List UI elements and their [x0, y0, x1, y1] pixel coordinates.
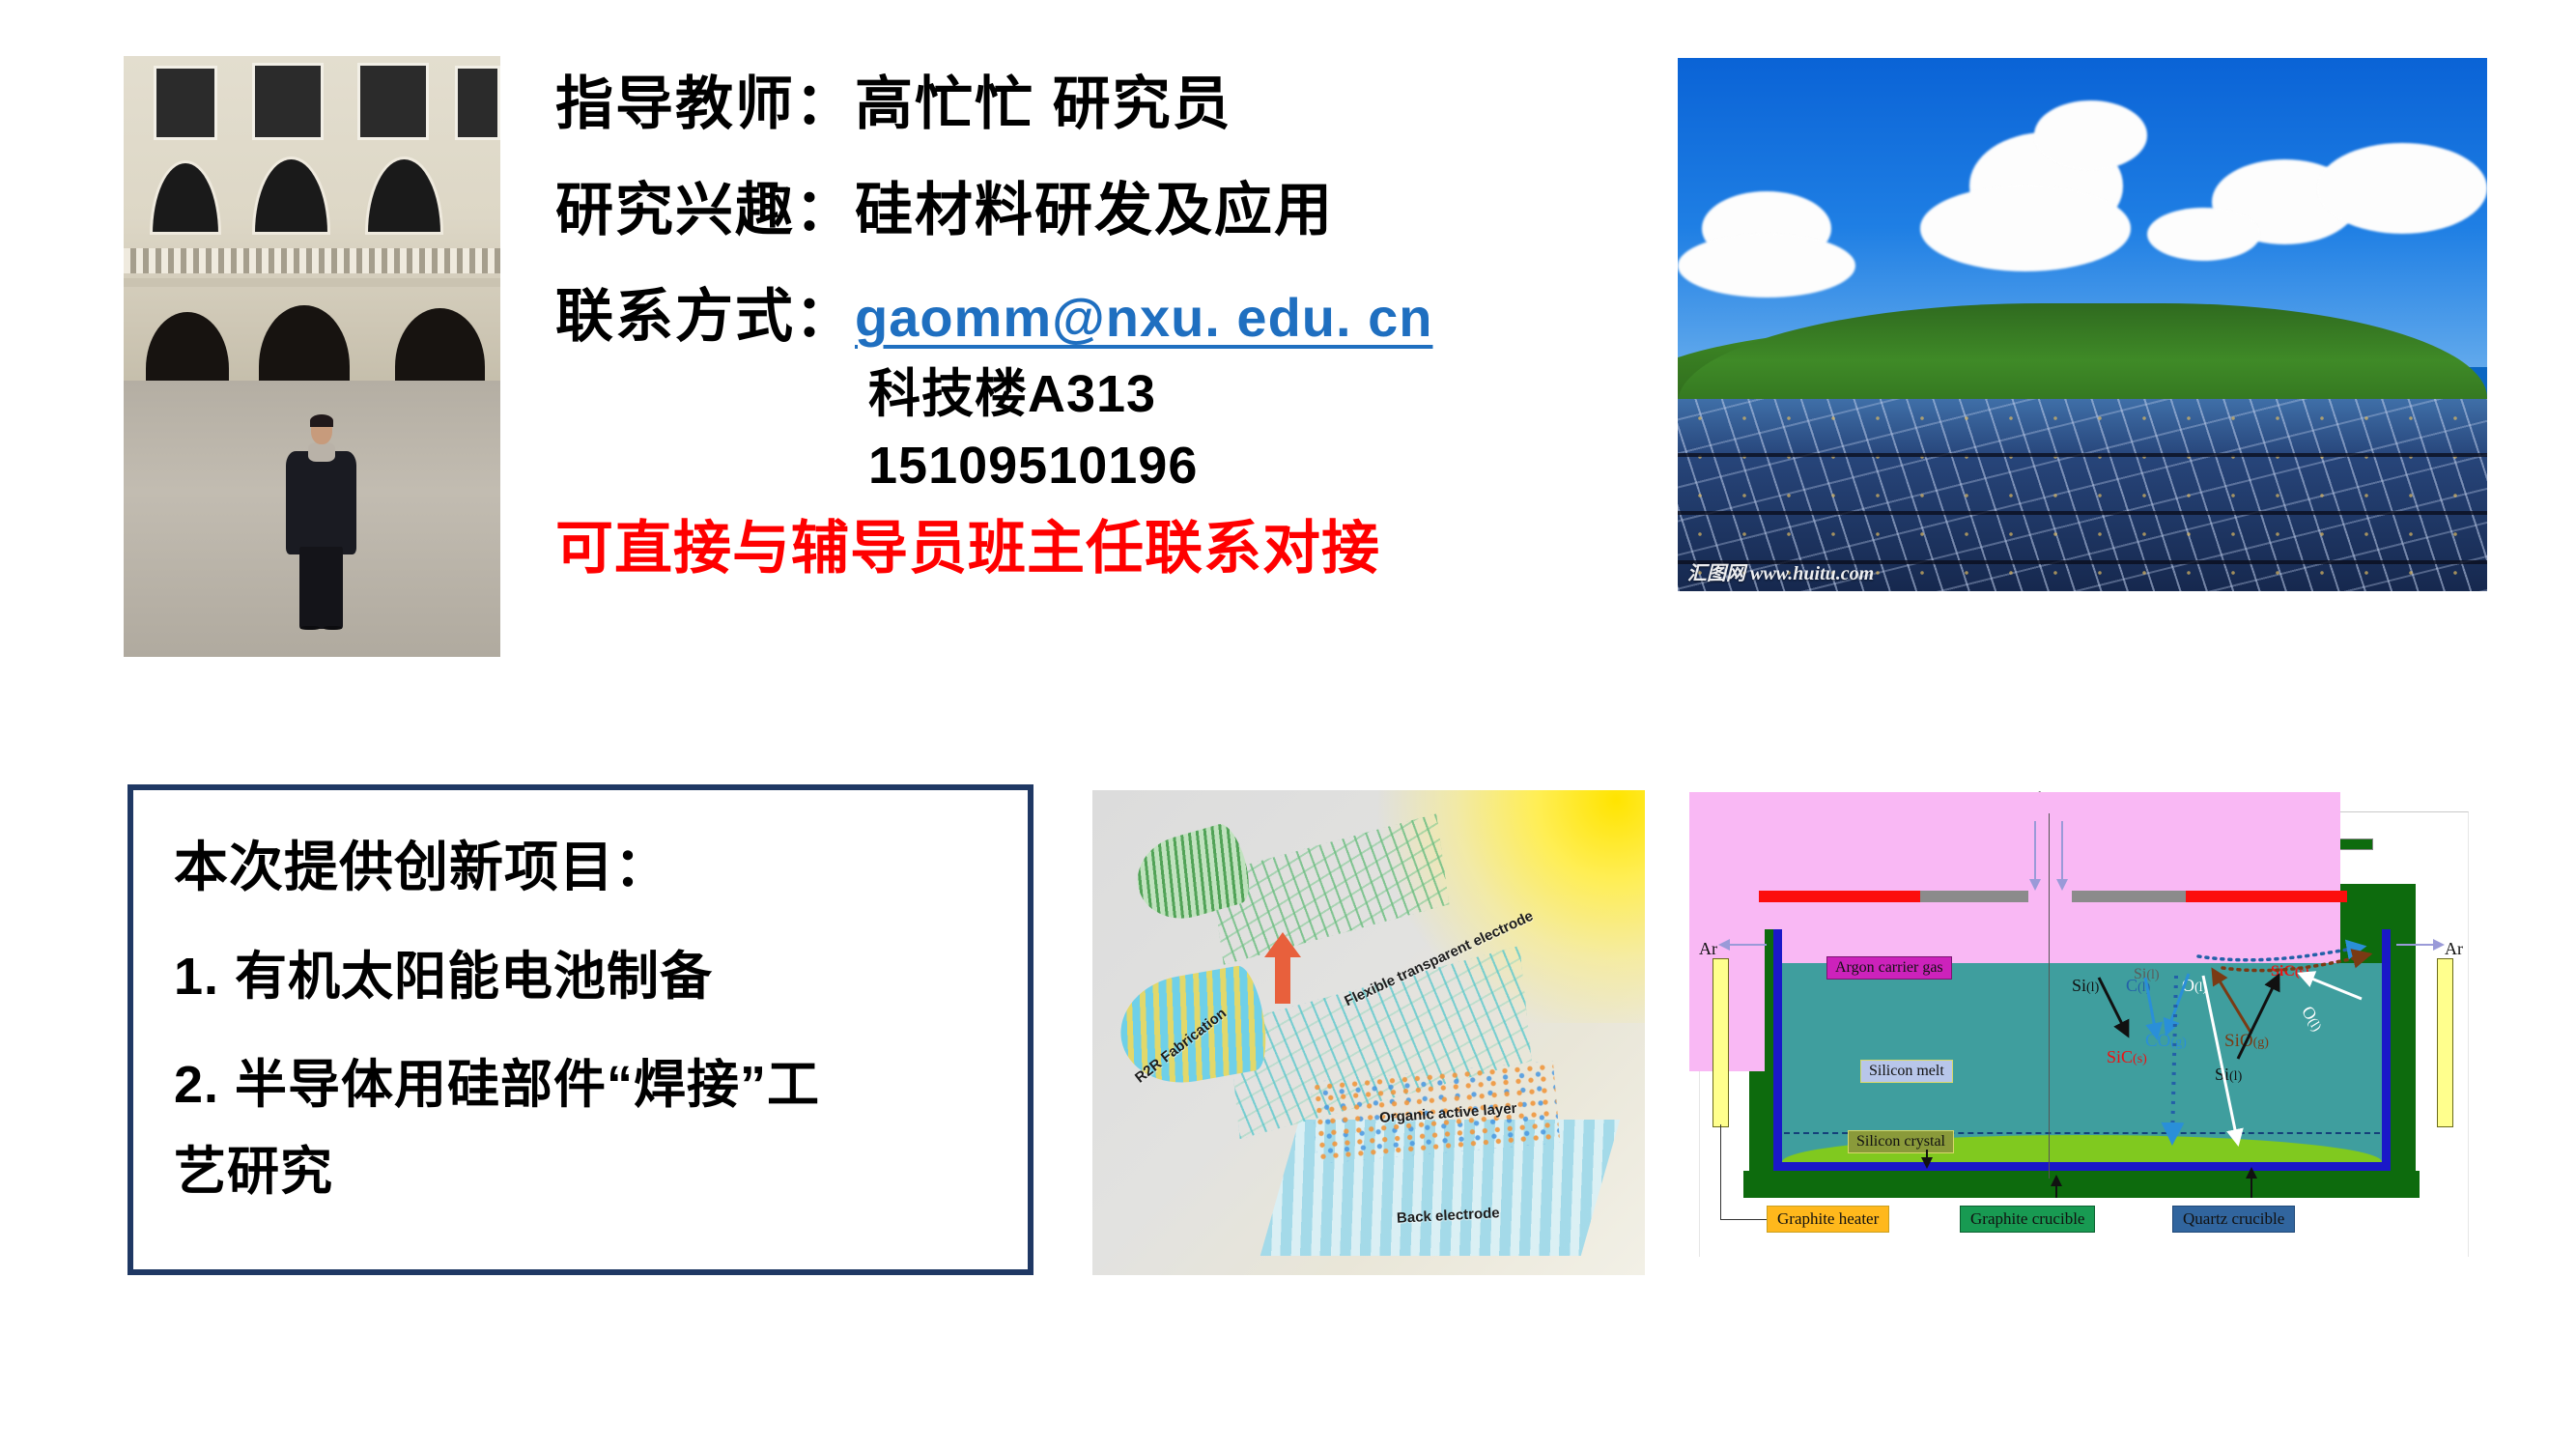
interest-label: 研究兴趣： [555, 178, 855, 242]
cloud [1678, 234, 1855, 298]
project-item-2-cont: 艺研究 [174, 1128, 1028, 1215]
species-c-liquid: C(l) [2126, 976, 2150, 996]
cloud [1920, 185, 2131, 270]
species-sub: (s) [2133, 1052, 2147, 1066]
organic-solar-cell-illustration: R2R Fabrication Flexible transparent ele… [1092, 790, 1645, 1275]
window [252, 63, 324, 140]
deposit-band-right [2186, 891, 2347, 902]
scarf [308, 442, 335, 462]
cloud [2147, 208, 2260, 261]
crucible-base-support [1743, 1171, 2420, 1198]
email-link[interactable]: gaomm@nxu. edu. cn [855, 277, 1432, 358]
shield-band-left [1920, 891, 2028, 902]
species-si-liquid-melt: Si(l) [2072, 976, 2099, 996]
tag-silicon-melt: Silicon melt [1860, 1060, 1953, 1083]
species-text: SiC [2271, 963, 2295, 980]
species-si-liquid-melt-2: Si(l) [2215, 1065, 2242, 1085]
cloud [2317, 143, 2487, 234]
advisor-portrait-photo [124, 56, 500, 657]
contact-note: 可直接与辅导员班主任联系对接 [555, 509, 1579, 588]
tag-silicon-crystal: Silicon crystal [1848, 1130, 1954, 1153]
axis-centerline [2049, 813, 2050, 1179]
species-sub: (l) [2137, 980, 2150, 995]
species-text: Si [2072, 976, 2086, 995]
project-item-2: 2. 半导体用硅部件“焊接”工 [174, 1041, 1028, 1128]
shoe [324, 626, 343, 630]
legs [299, 547, 343, 629]
window [154, 66, 217, 140]
species-sio-gas: SiO(g) [2224, 1031, 2269, 1052]
slide-canvas: 指导教师：高忙忙 研究员 研究兴趣：硅材料研发及应用 联系方式：gaomm@nx… [0, 0, 2576, 1449]
arcade-opening [259, 305, 350, 393]
shoe [300, 626, 320, 630]
legend-quartz-crucible: Quartz crucible [2172, 1206, 2295, 1233]
species-o-liquid-1: O(l) [2182, 976, 2207, 996]
czochralski-furnace-diagram: Ar Parasitic deposits Ar Ar Argon carrie… [1682, 784, 2488, 1277]
person-figure [297, 416, 346, 633]
interest-value: 硅材料研发及应用 [855, 178, 1334, 242]
photo-watermark: 汇图网 www.huitu.com [1687, 557, 1874, 585]
building-facade [124, 56, 500, 392]
office-location: 科技楼A313 [868, 358, 1579, 430]
species-sub: (l) [2229, 1069, 2242, 1084]
species-text: Si [2215, 1065, 2229, 1084]
solar-farm-photo: 汇图网 www.huitu.com [1678, 58, 2487, 591]
species-text: O [2182, 976, 2194, 995]
balustrade [124, 248, 500, 273]
window [357, 63, 429, 140]
species-sic-solid-melt: SiC(s) [2107, 1047, 2147, 1067]
species-sub: (g) [2170, 1036, 2186, 1050]
species-text: CO [2145, 1031, 2170, 1051]
advisor-row: 指导教师：高忙忙 研究员 [555, 64, 1579, 145]
project-list-box: 本次提供创新项目： 1. 有机太阳能电池制备 2. 半导体用硅部件“焊接”工 艺… [127, 784, 1033, 1275]
arched-window [252, 156, 331, 234]
advisor-label: 指导教师： [555, 71, 855, 136]
contact-label: 联系方式： [555, 276, 855, 357]
species-sub: (s) [2295, 965, 2309, 980]
hair [310, 414, 333, 427]
coat [286, 451, 356, 554]
tag-argon-carrier-gas: Argon carrier gas [1826, 956, 1952, 980]
contact-row: 联系方式：gaomm@nxu. edu. cn [555, 276, 1579, 358]
cornice [124, 278, 500, 287]
deposit-band-left [1759, 891, 1920, 902]
phone-number: 15109510196 [868, 430, 1579, 501]
interest-row: 研究兴趣：硅材料研发及应用 [555, 170, 1579, 251]
legend-graphite-heater: Graphite heater [1767, 1206, 1889, 1233]
graphite-heater-right [2437, 958, 2453, 1127]
species-text: SiC [2107, 1047, 2133, 1066]
species-sub: (l) [2194, 980, 2207, 995]
advisor-info-block: 指导教师：高忙忙 研究员 研究兴趣：硅材料研发及应用 联系方式：gaomm@nx… [555, 64, 1579, 588]
species-sub: (l) [2086, 980, 2099, 995]
species-text: SiO [2224, 1031, 2253, 1051]
arched-window [365, 156, 444, 234]
project-item-1: 1. 有机太阳能电池制备 [174, 933, 1028, 1020]
graphite-heater-left [1713, 958, 1729, 1127]
cloud [2034, 100, 2147, 170]
species-text: C [2126, 976, 2137, 995]
shield-band-right [2072, 891, 2186, 902]
label-ar-left: Ar [1699, 939, 1717, 959]
legend-graphite-crucible: Graphite crucible [1960, 1206, 2095, 1233]
species-co-gas: CO(g) [2145, 1031, 2187, 1052]
species-sub: (g) [2253, 1036, 2269, 1050]
label-ar-right: Ar [2445, 939, 2463, 959]
species-sic-solid-top: SiC(s) [2271, 963, 2309, 980]
project-box-title: 本次提供创新项目： [174, 823, 1028, 912]
advisor-value: 高忙忙 研究员 [855, 71, 1232, 136]
arched-window [150, 160, 221, 235]
window [455, 66, 500, 140]
